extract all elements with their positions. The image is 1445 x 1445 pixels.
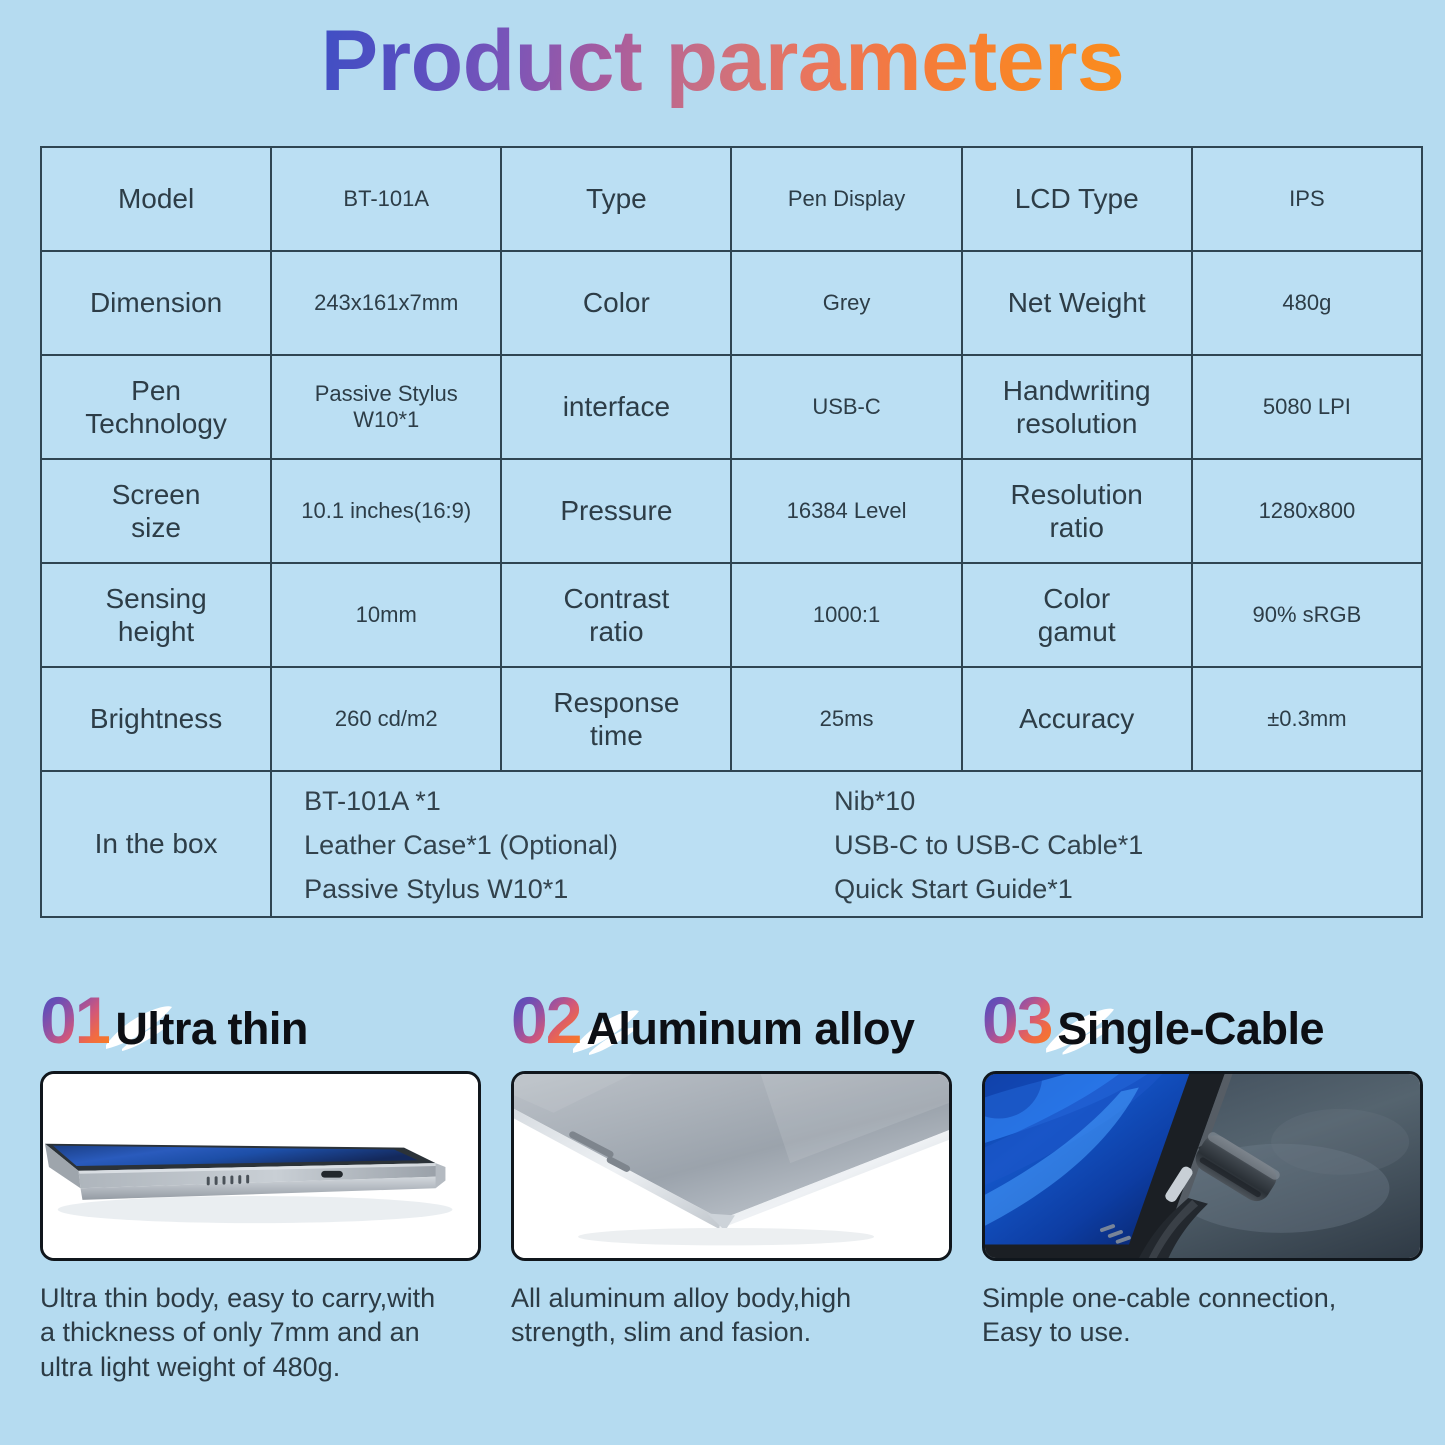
list-item: Nib*10 — [834, 786, 1354, 818]
spec-label: Accuracy — [962, 667, 1192, 771]
specification-table: Model BT-101A Type Pen Display LCD Type … — [40, 146, 1423, 918]
feature-caption: Ultra thin body, easy to carry,with a th… — [40, 1281, 481, 1384]
feature-heading: 03 Single-Cable — [982, 975, 1423, 1053]
list-item: USB-C to USB-C Cable*1 — [834, 830, 1354, 862]
usb-c-cable-connected-photo — [982, 1071, 1423, 1261]
spec-value: 1000:1 — [731, 563, 961, 667]
in-the-box-column-right: Nib*10 USB-C to USB-C Cable*1 Quick Star… — [834, 786, 1354, 906]
feature-number: 02 — [511, 987, 580, 1053]
table-row: Screen size 10.1 inches(16:9) Pressure 1… — [41, 459, 1422, 563]
spec-value: BT-101A — [271, 147, 501, 251]
feature-title: Single-Cable — [1057, 1006, 1324, 1051]
table-row: Pen Technology Passive Stylus W10*1 inte… — [41, 355, 1422, 459]
spec-label: Pen Technology — [41, 355, 271, 459]
table-row: Model BT-101A Type Pen Display LCD Type … — [41, 147, 1422, 251]
spec-value: ±0.3mm — [1192, 667, 1422, 771]
feature-aluminum-alloy: 02 Aluminum alloy — [511, 975, 952, 1384]
in-the-box-label: In the box — [41, 771, 271, 917]
spec-value: 5080 LPI — [1192, 355, 1422, 459]
spec-value: 10.1 inches(16:9) — [271, 459, 501, 563]
spec-label: Color gamut — [962, 563, 1192, 667]
spec-value: 480g — [1192, 251, 1422, 355]
page-title: Product parameters — [321, 12, 1125, 111]
spec-label: Dimension — [41, 251, 271, 355]
spec-value: 243x161x7mm — [271, 251, 501, 355]
aluminum-back-corner-photo — [511, 1071, 952, 1261]
spec-label: Pressure — [501, 459, 731, 563]
spec-label: Sensing height — [41, 563, 271, 667]
feature-ultra-thin: 01 Ultra thin — [40, 975, 481, 1384]
spec-table-body: Model BT-101A Type Pen Display LCD Type … — [41, 147, 1422, 917]
spec-value: 1280x800 — [1192, 459, 1422, 563]
in-the-box-row: In the box BT-101A *1 Leather Case*1 (Op… — [41, 771, 1422, 917]
spec-value: Grey — [731, 251, 961, 355]
list-item: Quick Start Guide*1 — [834, 874, 1354, 906]
spec-value: 90% sRGB — [1192, 563, 1422, 667]
spec-value: Passive Stylus W10*1 — [271, 355, 501, 459]
spec-label: Color — [501, 251, 731, 355]
spec-value: 25ms — [731, 667, 961, 771]
spec-value: 260 cd/m2 — [271, 667, 501, 771]
feature-caption: All aluminum alloy body,high strength, s… — [511, 1281, 952, 1350]
list-item: Passive Stylus W10*1 — [304, 874, 834, 906]
product-parameters-page: Product parameters Model BT-101A Type Pe… — [0, 0, 1445, 1445]
table-row: Sensing height 10mm Contrast ratio 1000:… — [41, 563, 1422, 667]
list-item: Leather Case*1 (Optional) — [304, 830, 834, 862]
spec-label: Type — [501, 147, 731, 251]
feature-heading: 02 Aluminum alloy — [511, 975, 952, 1053]
feature-title: Aluminum alloy — [586, 1006, 914, 1051]
page-title-container: Product parameters — [0, 12, 1445, 111]
spec-label: Response time — [501, 667, 731, 771]
in-the-box-contents: BT-101A *1 Leather Case*1 (Optional) Pas… — [271, 771, 1422, 917]
spec-value: IPS — [1192, 147, 1422, 251]
feature-single-cable: 03 Single-Cable — [982, 975, 1423, 1384]
feature-caption: Simple one-cable connection, Easy to use… — [982, 1281, 1423, 1350]
in-the-box-grid: BT-101A *1 Leather Case*1 (Optional) Pas… — [272, 772, 1421, 916]
tablet-side-profile-photo — [40, 1071, 481, 1261]
spec-label: Screen size — [41, 459, 271, 563]
table-row: Brightness 260 cd/m2 Response time 25ms … — [41, 667, 1422, 771]
table-row: Dimension 243x161x7mm Color Grey Net Wei… — [41, 251, 1422, 355]
features-section: 01 Ultra thin — [40, 975, 1423, 1384]
spec-label: Contrast ratio — [501, 563, 731, 667]
spec-value: Pen Display — [731, 147, 961, 251]
spec-value: 16384 Level — [731, 459, 961, 563]
spec-value: 10mm — [271, 563, 501, 667]
spec-label: Handwriting resolution — [962, 355, 1192, 459]
spec-label: LCD Type — [962, 147, 1192, 251]
spec-label: Net Weight — [962, 251, 1192, 355]
feature-heading: 01 Ultra thin — [40, 975, 481, 1053]
list-item: BT-101A *1 — [304, 786, 834, 818]
in-the-box-column-left: BT-101A *1 Leather Case*1 (Optional) Pas… — [304, 786, 834, 906]
spec-label: Brightness — [41, 667, 271, 771]
feature-number: 03 — [982, 987, 1051, 1053]
spec-label: Resolution ratio — [962, 459, 1192, 563]
feature-title: Ultra thin — [115, 1006, 308, 1051]
feature-number: 01 — [40, 987, 109, 1053]
spec-label: interface — [501, 355, 731, 459]
spec-label: Model — [41, 147, 271, 251]
spec-value: USB-C — [731, 355, 961, 459]
